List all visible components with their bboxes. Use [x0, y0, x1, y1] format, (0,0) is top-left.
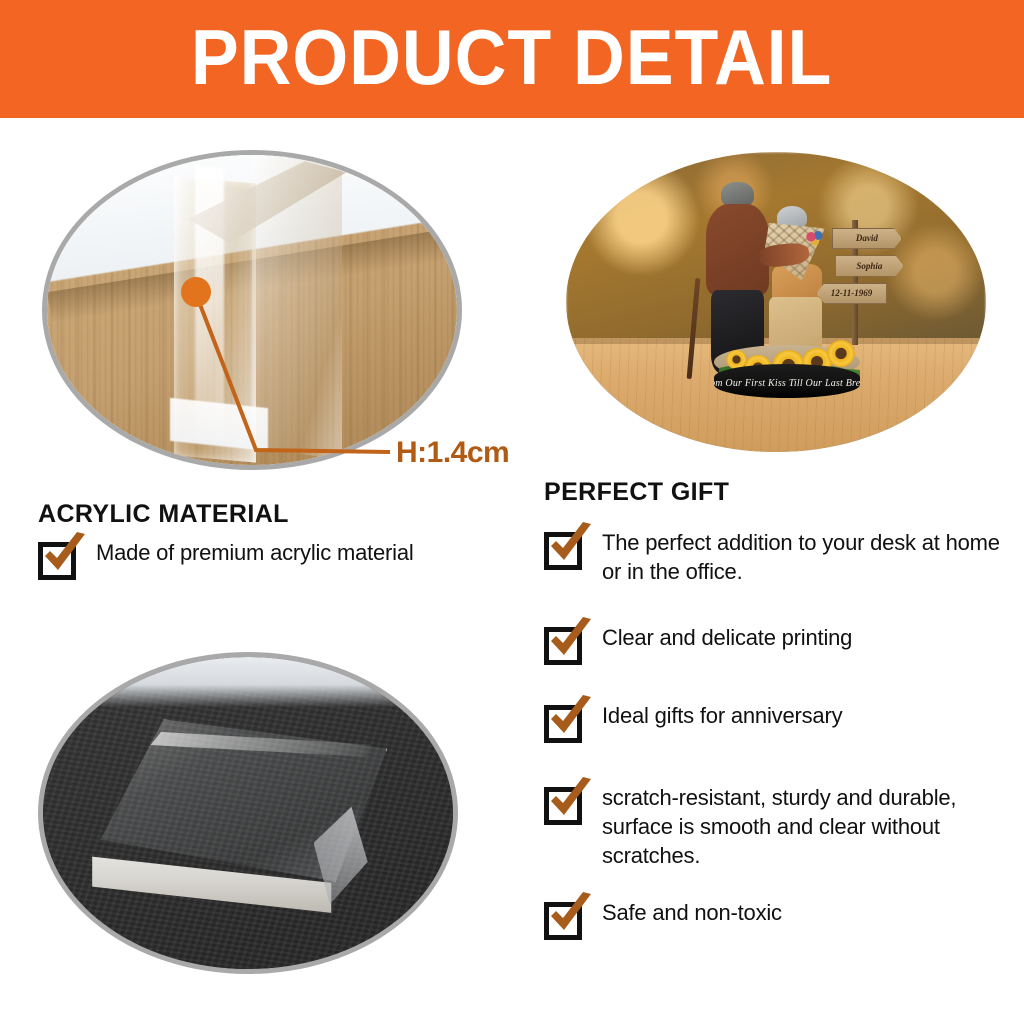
feature-text: The perfect addition to your desk at hom… [602, 528, 1014, 586]
checkmark-icon [544, 522, 596, 570]
feature-text: Safe and non-toxic [602, 898, 782, 927]
feature-text: Made of premium acrylic material [96, 538, 414, 567]
checkmark-icon [544, 892, 596, 940]
checkmark-icon [544, 617, 596, 665]
base-plaque-text: From Our First Kiss Till Our Last Breath [714, 378, 860, 389]
checkbox-checked-icon [38, 538, 82, 580]
couple-figurine-photo: David Sophia 12-11-1969 From Our First K… [566, 152, 986, 452]
sign-name-first: David [832, 228, 902, 249]
background-light-strip [43, 657, 453, 707]
height-measure-label: H:1.4cm [396, 436, 509, 470]
checkmark-icon [544, 777, 596, 825]
acrylic-material-heading: ACRYLIC MATERIAL [38, 500, 289, 529]
slab-photo-scene [43, 657, 453, 969]
checkbox-checked-icon [544, 701, 588, 743]
checkbox-checked-icon [544, 783, 588, 825]
feature-item: Safe and non-toxic [544, 898, 782, 940]
page-title: PRODUCT DETAIL [191, 18, 832, 100]
feature-text: Clear and delicate printing [602, 623, 852, 652]
feature-text: scratch-resistant, sturdy and durable, s… [602, 783, 1014, 870]
feature-item: Ideal gifts for anniversary [544, 701, 842, 743]
figurine-group: David Sophia 12-11-1969 From Our First K… [658, 182, 910, 422]
perfect-gift-heading: PERFECT GIFT [544, 478, 729, 507]
figurine-base-plaque: From Our First Kiss Till Our Last Breath [714, 364, 860, 398]
feature-item: scratch-resistant, sturdy and durable, s… [544, 783, 1014, 870]
man-jacket [706, 204, 769, 295]
signpost: David Sophia 12-11-1969 [815, 220, 901, 345]
sign-date: 12-11-1969 [816, 283, 886, 304]
edge-photo-scene [47, 155, 457, 465]
header-banner: PRODUCT DETAIL [0, 0, 1024, 118]
sign-name-second: Sophia [835, 255, 904, 276]
feature-item: Clear and delicate printing [544, 623, 852, 665]
checkbox-checked-icon [544, 898, 588, 940]
acrylic-block-edge-photo [42, 150, 462, 470]
product-detail-page: PRODUCT DETAIL [0, 0, 1024, 1024]
feature-item: Made of premium acrylic material [38, 538, 414, 580]
checkmark-icon [38, 532, 90, 580]
feature-item: The perfect addition to your desk at hom… [544, 528, 1014, 586]
acrylic-slab-photo [38, 652, 458, 974]
sunflower [827, 340, 855, 366]
checkbox-checked-icon [544, 528, 588, 570]
walking-cane [687, 278, 701, 379]
checkmark-icon [544, 695, 596, 743]
feature-text: Ideal gifts for anniversary [602, 701, 842, 730]
checkbox-checked-icon [544, 623, 588, 665]
